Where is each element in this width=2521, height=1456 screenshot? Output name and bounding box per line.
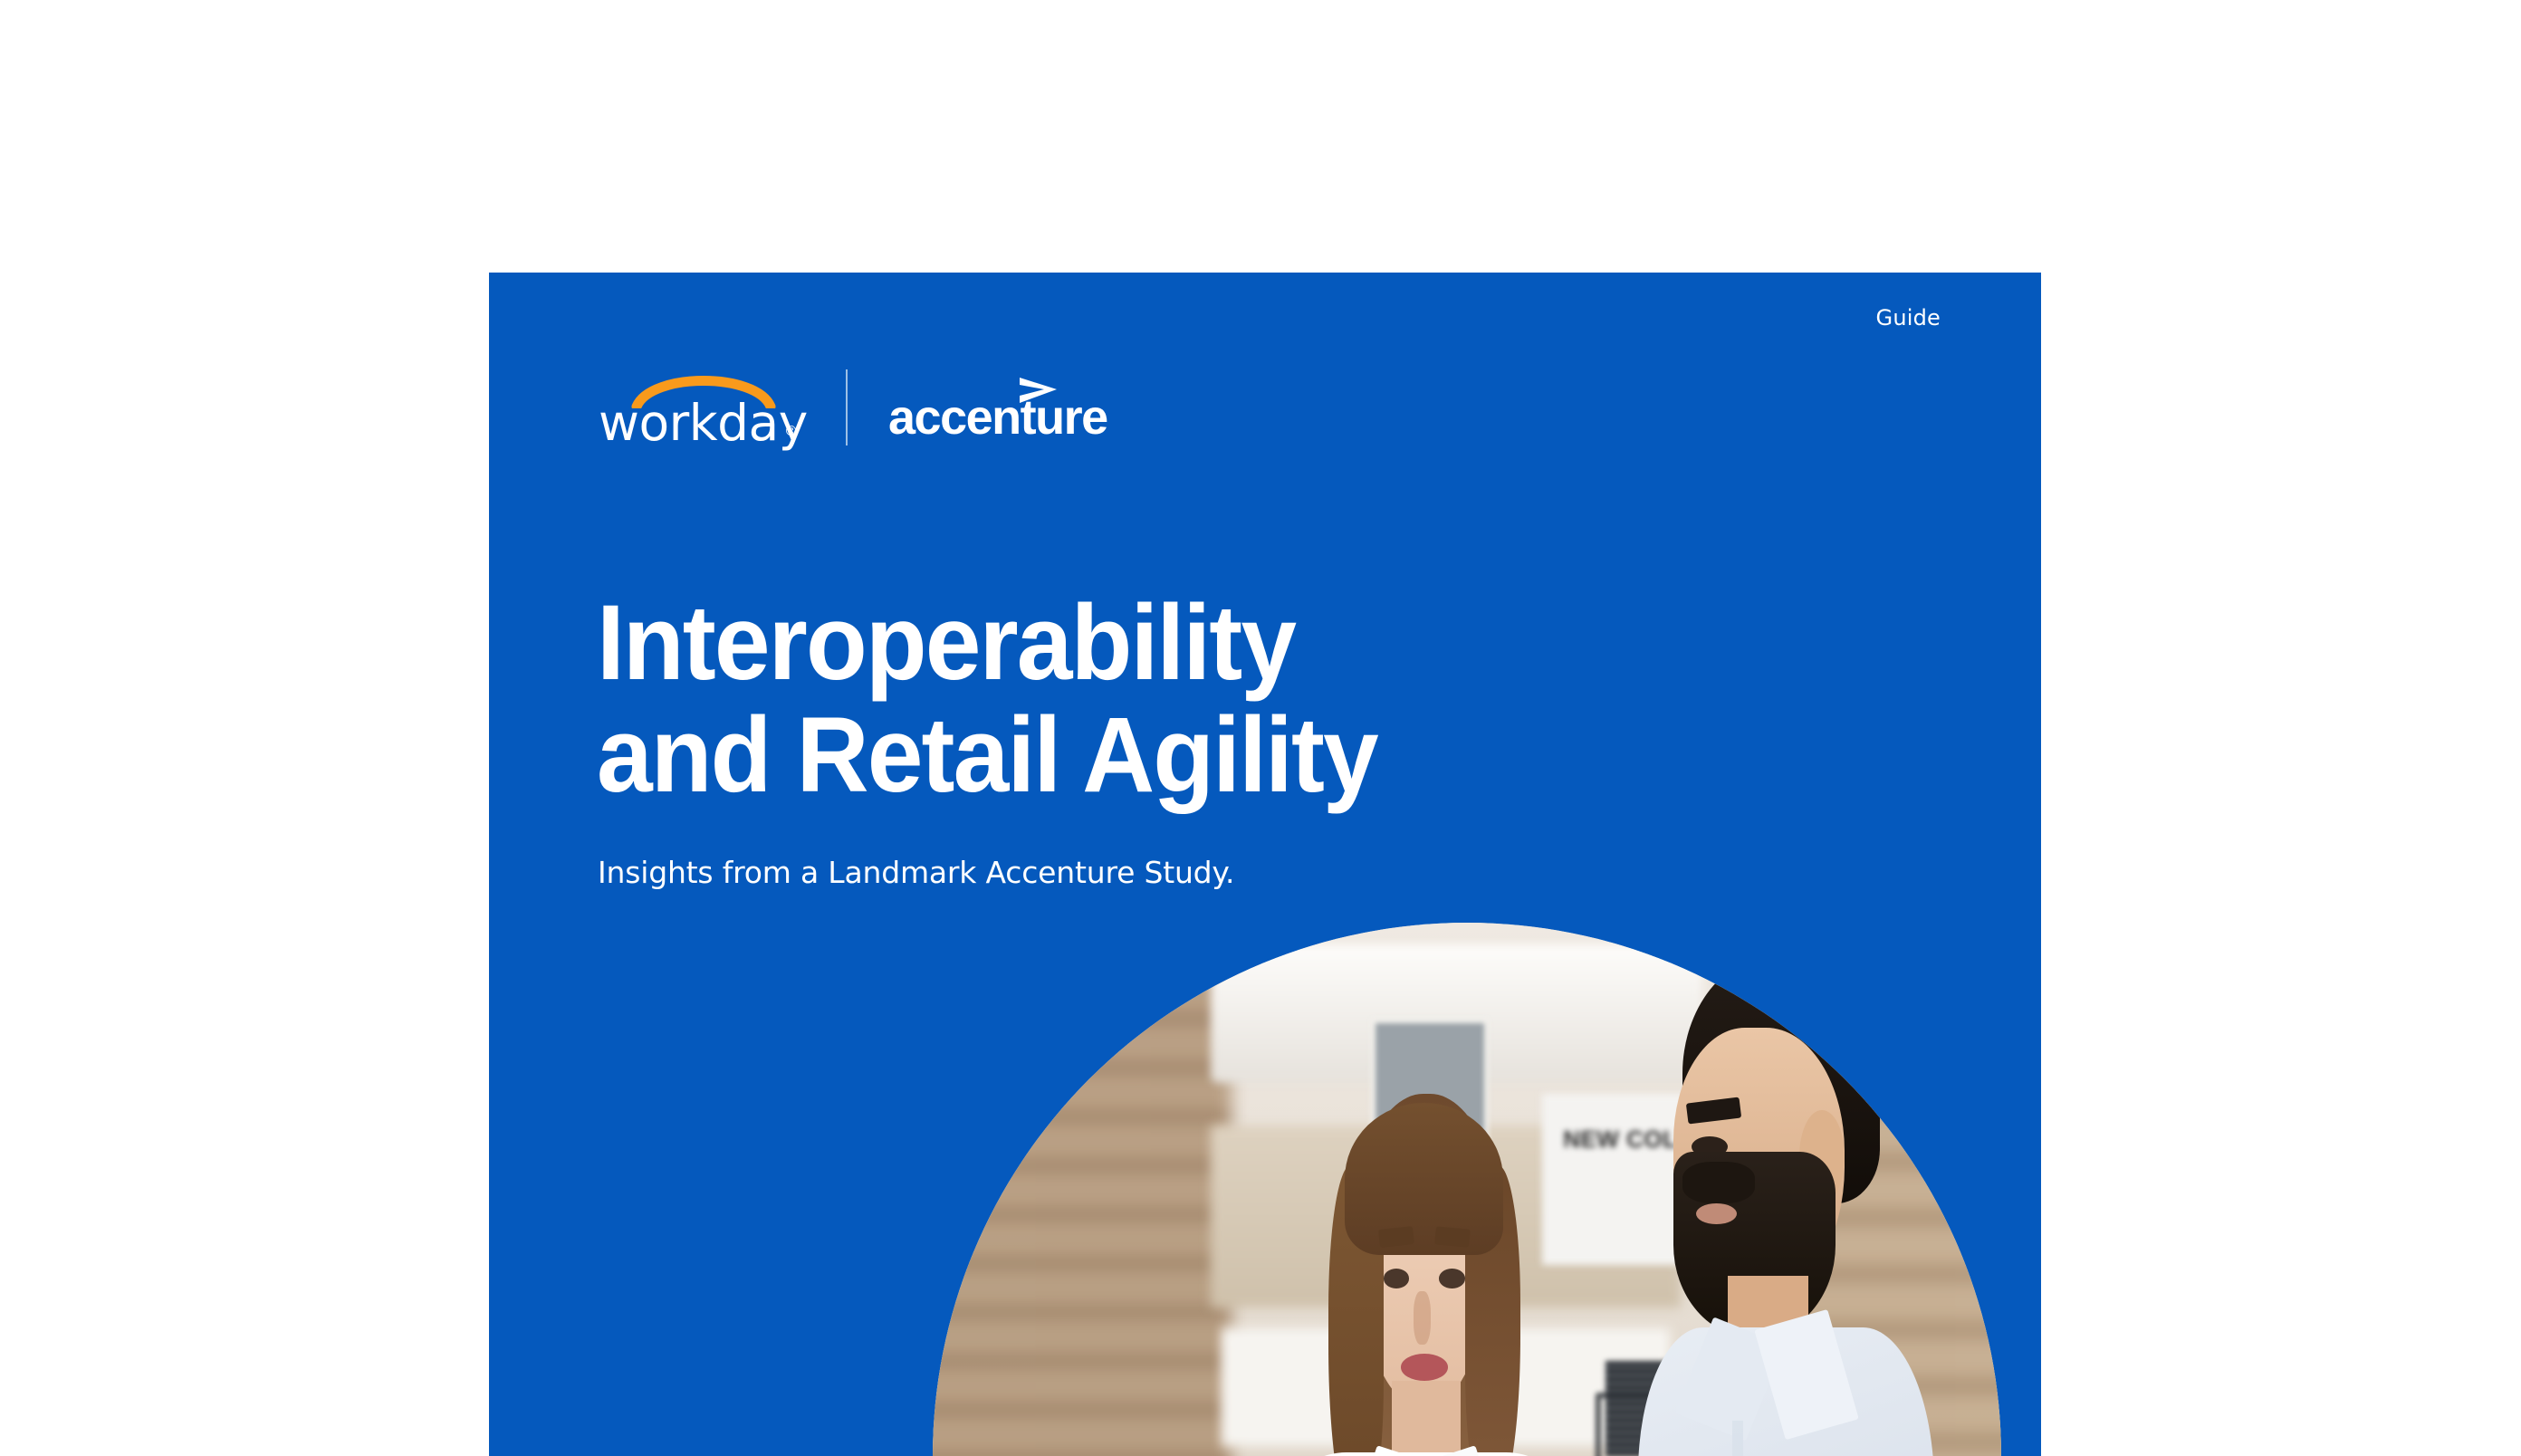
screenshot-canvas: workday ® accenture Guide Interoperabili… bbox=[0, 0, 2521, 1456]
logo-divider bbox=[846, 369, 848, 445]
workday-wordmark: workday bbox=[599, 397, 808, 449]
cover-page: workday ® accenture Guide Interoperabili… bbox=[489, 273, 2041, 1456]
woman-lips bbox=[1401, 1354, 1448, 1381]
page-title: Interoperability and Retail Agility bbox=[597, 587, 1377, 811]
woman-eyebrow-right bbox=[1434, 1227, 1470, 1248]
hero-photo-scene: NEW COLLECTION bbox=[933, 923, 2001, 1456]
woman-hair-front bbox=[1345, 1103, 1503, 1256]
hero-photo: NEW COLLECTION bbox=[933, 923, 2001, 1456]
person-woman bbox=[1242, 1094, 1670, 1456]
woman-white-shirt bbox=[1260, 1452, 1593, 1456]
man-lips bbox=[1696, 1203, 1737, 1224]
shelving-left bbox=[933, 965, 1232, 1456]
woman-eye-right bbox=[1439, 1269, 1464, 1288]
accenture-logo: accenture bbox=[888, 367, 1115, 450]
man-mustache bbox=[1682, 1162, 1754, 1203]
accenture-wordmark: accenture bbox=[888, 391, 1107, 444]
man-shirt-placket bbox=[1732, 1421, 1743, 1456]
person-man bbox=[1638, 954, 2001, 1456]
woman-eye-left bbox=[1384, 1269, 1409, 1288]
workday-registered-mark: ® bbox=[784, 423, 798, 439]
woman-neck bbox=[1392, 1381, 1461, 1456]
logo-lockup: workday ® accenture bbox=[599, 367, 1115, 450]
document-type-label: Guide bbox=[1876, 305, 1941, 330]
workday-logo: workday ® bbox=[599, 367, 805, 450]
page-subtitle: Insights from a Landmark Accenture Study… bbox=[598, 855, 1234, 891]
woman-nose bbox=[1414, 1291, 1431, 1345]
